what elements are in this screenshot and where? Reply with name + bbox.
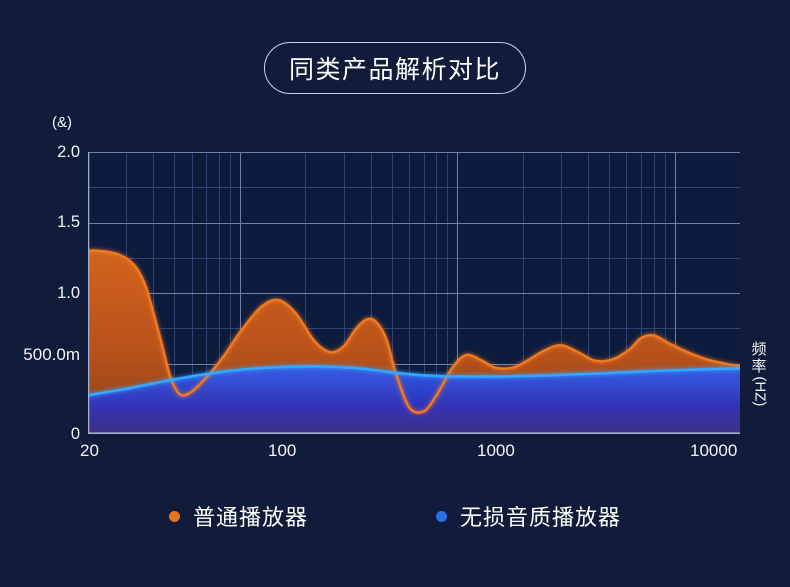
right-axis-title: 频 率 (HZ) (744, 342, 774, 399)
legend-item-lossless[interactable]: 无损音质播放器 (436, 500, 621, 532)
y-tick-0: 0 (8, 425, 80, 444)
plot-area (88, 152, 740, 434)
x-tick-10000: 10000 (690, 441, 737, 461)
chart-canvas (88, 152, 740, 434)
y-tick-500m: 500.0m (8, 345, 80, 365)
y-tick-2: 2.0 (8, 143, 80, 162)
chart-legend: 普通播放器 无损音质播放器 (0, 500, 790, 532)
y-tick-1: 1.0 (8, 284, 80, 303)
chart-screenshot: 同类产品解析对比 (&) 2.0 1.5 1.0 500.0m 0 20 100… (0, 0, 790, 587)
right-axis-title-line1: 频 (744, 342, 774, 359)
x-tick-100: 100 (268, 441, 296, 461)
legend-label-lossless: 无损音质播放器 (460, 500, 621, 532)
y-tick-1_5: 1.5 (8, 213, 80, 232)
x-tick-1000: 1000 (477, 441, 515, 461)
legend-item-ordinary[interactable]: 普通播放器 (169, 500, 308, 532)
y-axis-unit: (&) (52, 114, 72, 131)
legend-dot-icon-lossless (436, 511, 447, 522)
legend-dot-icon-ordinary (169, 511, 180, 522)
legend-label-ordinary: 普通播放器 (193, 500, 308, 532)
chart-title-pill: 同类产品解析对比 (264, 42, 526, 94)
page-title: 同类产品解析对比 (289, 50, 501, 86)
x-tick-20: 20 (80, 441, 99, 461)
right-axis-title-unit: (HZ) (751, 376, 768, 406)
right-axis-title-line2: 率 (744, 359, 774, 376)
